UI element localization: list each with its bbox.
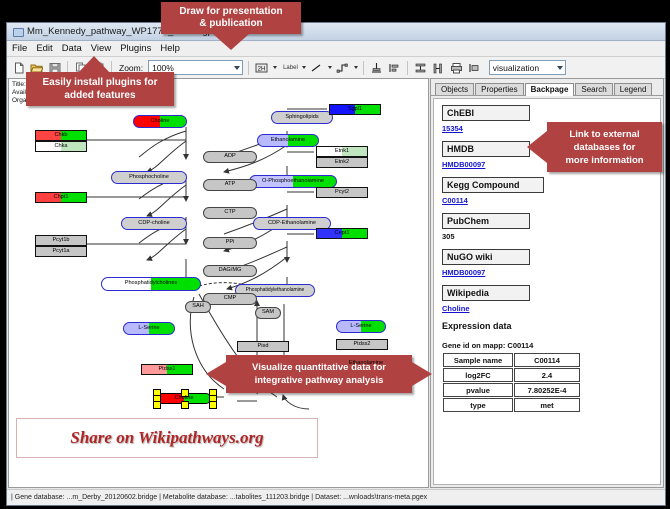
node-label: Chpt1 — [54, 195, 69, 201]
menu-bar: File Edit Data View Plugins Help — [7, 41, 665, 57]
node-label: L-Serine — [350, 324, 371, 330]
node-ptdss2[interactable]: Ptdss2 — [336, 339, 388, 350]
callout-visualize-line2: integrative pathway analysis — [255, 374, 384, 387]
node-label: Phosphatidylethanolamine — [246, 288, 305, 293]
callout-links-line3: more information — [565, 154, 643, 167]
table-row: pvalue 7.80252E-4 — [443, 383, 580, 397]
node-label: CTP — [224, 210, 235, 216]
toolbar-separator — [363, 61, 364, 75]
menu-item-help[interactable]: Help — [160, 43, 180, 54]
callout-plugins: Easily install plugins for added feature… — [26, 72, 174, 106]
node-chka[interactable]: Chka — [35, 141, 87, 152]
callout-draw-line2: & publication — [199, 18, 262, 30]
db-header-kegg: Kegg Compound — [442, 177, 544, 193]
selection-handle[interactable] — [209, 401, 217, 409]
text-format-icon[interactable]: 2H — [254, 60, 269, 75]
node-label: Phosphatidylcholines — [125, 281, 178, 287]
callout-links-line1: Link to external — [569, 128, 639, 141]
line-tool-icon[interactable] — [309, 60, 324, 75]
node-sgpl1[interactable]: Sgpl1 — [329, 104, 381, 115]
tab-properties[interactable]: Properties — [475, 83, 523, 95]
node-dagmag[interactable]: DAG/MG — [203, 265, 257, 277]
menu-item-file[interactable]: File — [12, 43, 27, 54]
status-bar: | Gene database: ...m_Derby_20120602.bri… — [7, 489, 665, 505]
callout-share-text: Share on Wikipathways.org — [70, 428, 263, 448]
node-label: CDP-choline — [138, 221, 169, 227]
node-label: ATP — [225, 182, 235, 188]
expr-key: pvalue — [443, 383, 513, 397]
node-label: Sphingolipids — [285, 115, 318, 121]
side-panel-tabs: Objects Properties Backpage Search Legen… — [431, 79, 663, 96]
align-bottom-icon[interactable] — [369, 60, 384, 75]
node-sam[interactable]: SAM — [255, 307, 281, 319]
node-ptdss1[interactable]: Ptdss1 — [141, 364, 193, 375]
node-phosphocholine[interactable]: Phosphocholine — [111, 171, 187, 184]
node-label: L-Serine — [138, 326, 159, 332]
node-label: PPi — [226, 240, 235, 246]
node-cdp-choline[interactable]: CDP-choline — [121, 217, 187, 230]
menu-item-edit[interactable]: Edit — [36, 43, 52, 54]
db-header-pubchem: PubChem — [442, 213, 530, 229]
node-etnk2[interactable]: Etnk2 — [316, 157, 368, 168]
node-cmp[interactable]: CMP — [203, 293, 257, 305]
status-text: | Gene database: ...m_Derby_20120602.bri… — [11, 494, 427, 501]
menu-item-view[interactable]: View — [91, 43, 111, 54]
node-label: Pcyt1b — [52, 238, 69, 244]
node-label: Pcyt2 — [335, 190, 349, 196]
expr-key: type — [443, 398, 513, 412]
expr-value: C00114 — [514, 353, 580, 367]
node-label: Pcyt1a — [52, 249, 69, 255]
db-header-nugowiki: NuGO wiki — [442, 249, 530, 265]
callout-draw: Draw for presentation & publication — [161, 2, 301, 34]
tab-legend[interactable]: Legend — [614, 83, 653, 95]
zoom-label: Zoom: — [119, 63, 143, 73]
distribute-horizontal-icon[interactable] — [431, 60, 446, 75]
node-label: CDP-Ethanolamine — [268, 221, 316, 227]
node-ethanolamine[interactable]: Ethanolamine — [257, 134, 319, 147]
expression-table: Sample name C00114 log2FC 2.4 pvalue 7.8… — [442, 352, 581, 413]
node-choline-selected-group[interactable]: Choline — [153, 389, 215, 407]
chevron-down-icon — [234, 66, 240, 70]
table-row: type met — [443, 398, 580, 412]
node-l-serine-left[interactable]: L-Serine — [123, 322, 175, 335]
node-cept1[interactable]: Cept1 — [316, 228, 368, 239]
node-pcyt2[interactable]: Pcyt2 — [316, 187, 368, 198]
db-header-hmdb: HMDB — [442, 141, 530, 157]
expr-key: Sample name — [443, 353, 513, 367]
zoom-value: 100% — [152, 63, 174, 73]
node-label: Choline — [175, 396, 194, 402]
node-label: CMP — [224, 296, 236, 302]
node-phosphatidylcholine[interactable]: Phosphatidylcholines — [101, 277, 201, 291]
node-label: SAH — [192, 304, 204, 310]
node-label: Choline — [151, 119, 170, 125]
distribute-vertical-icon[interactable] — [413, 60, 428, 75]
gene-id-line: Gene id on mapp: C00114 — [442, 341, 660, 350]
callout-visualize: Visualize quantitative data for integrat… — [226, 355, 412, 393]
table-row: Sample name C00114 — [443, 353, 580, 367]
expr-value: 7.80252E-4 — [514, 383, 580, 397]
selection-handle[interactable] — [153, 401, 161, 409]
callout-visualize-arrow-left — [206, 362, 226, 386]
callout-share: Share on Wikipathways.org — [16, 418, 318, 458]
chevron-down-icon[interactable] — [354, 66, 358, 69]
node-sphingolipids[interactable]: Sphingolipids — [271, 111, 333, 124]
node-label: O-Phosphoethanolamine — [262, 179, 324, 185]
toolbar-separator — [407, 61, 408, 75]
table-row: log2FC 2.4 — [443, 368, 580, 382]
node-ctp[interactable]: CTP — [203, 207, 257, 219]
selection-handle[interactable] — [181, 401, 189, 409]
node-l-serine-right[interactable]: L-Serine — [336, 320, 386, 333]
callout-plugins-arrow — [78, 56, 110, 73]
node-pcyt1a[interactable]: Pcyt1a — [35, 246, 87, 257]
node-label: Ethanolamine — [349, 361, 383, 367]
db-header-chebi: ChEBI — [442, 105, 530, 121]
tab-objects[interactable]: Objects — [435, 83, 474, 95]
connector-tool-icon[interactable] — [335, 60, 350, 75]
node-chpt1[interactable]: Chpt1 — [35, 192, 87, 203]
node-label: Etnk1 — [335, 149, 349, 155]
node-label: Etnk2 — [335, 160, 349, 166]
node-label: Ptdss2 — [353, 342, 370, 348]
expr-value: met — [514, 398, 580, 412]
db-value-pubchem: 305 — [442, 232, 660, 241]
chevron-down-icon[interactable] — [302, 66, 306, 69]
chevron-down-icon — [557, 66, 563, 70]
callout-draw-arrow — [213, 34, 249, 50]
callout-plugins-line1: Easily install plugins for — [42, 76, 157, 89]
db-link-kegg[interactable]: C00114 — [442, 196, 660, 205]
screenshot-root: Mm_Kennedy_pathway_WP1771_45176.gpml Fil… — [0, 0, 670, 509]
app-icon — [12, 26, 23, 37]
node-sah[interactable]: SAH — [185, 301, 211, 313]
node-label: Ptdss1 — [158, 367, 175, 373]
visualization-value: visualization — [493, 63, 539, 73]
node-choline-top[interactable]: Choline — [133, 115, 187, 128]
node-label: Ethanolamine — [271, 138, 305, 144]
node-adp[interactable]: ADP — [203, 151, 257, 163]
visualization-combo[interactable]: visualization — [489, 60, 566, 75]
expr-value: 2.4 — [514, 368, 580, 382]
node-atp[interactable]: ATP — [203, 179, 257, 191]
node-label: ADP — [224, 154, 236, 160]
db-header-wikipedia: Wikipedia — [442, 285, 530, 301]
menu-item-plugins[interactable]: Plugins — [120, 43, 151, 54]
tab-search[interactable]: Search — [575, 83, 612, 95]
node-ppi[interactable]: PPi — [203, 237, 257, 249]
svg-text:2H: 2H — [258, 66, 266, 72]
node-label: Phosphocholine — [129, 175, 169, 181]
toolbar-separator — [248, 61, 249, 75]
tab-backpage[interactable]: Backpage — [525, 83, 575, 96]
node-chkb[interactable]: Chkb — [35, 130, 87, 141]
node-label: Pisd — [258, 344, 269, 350]
expr-key: log2FC — [443, 368, 513, 382]
node-label: Sgpl1 — [348, 107, 362, 113]
db-link-wikipedia[interactable]: Choline — [442, 304, 660, 313]
db-link-nugowiki[interactable]: HMDB00097 — [442, 268, 660, 277]
callout-links-arrow — [527, 131, 547, 163]
menu-item-data[interactable]: Data — [62, 43, 82, 54]
node-label: DAG/MG — [219, 268, 242, 274]
callout-links: Link to external databases for more info… — [547, 122, 662, 172]
title-bar: Mm_Kennedy_pathway_WP1771_45176.gpml — [7, 23, 665, 41]
node-label: Cept1 — [335, 231, 350, 237]
node-etnk1[interactable]: Etnk1 — [316, 146, 368, 157]
expression-data-heading: Expression data — [442, 321, 660, 331]
new-file-icon[interactable] — [11, 60, 26, 75]
node-pcyt1b[interactable]: Pcyt1b — [35, 235, 87, 246]
callout-visualize-arrow-right — [412, 362, 432, 386]
bring-to-front-icon[interactable] — [467, 60, 482, 75]
label-dropdown-label: Label — [283, 65, 298, 71]
node-label: SAM — [262, 310, 274, 316]
chevron-down-icon[interactable] — [328, 66, 332, 69]
print-icon[interactable] — [449, 60, 464, 75]
node-pisd[interactable]: Pisd — [237, 341, 289, 352]
align-left-icon[interactable] — [387, 60, 402, 75]
callout-links-line2: databases for — [574, 141, 636, 154]
node-label: Chkb — [54, 133, 67, 139]
callout-plugins-line2: added features — [64, 89, 135, 102]
node-label: Chka — [54, 144, 67, 150]
callout-draw-line1: Draw for presentation — [179, 6, 282, 18]
chevron-down-icon[interactable] — [273, 66, 277, 69]
